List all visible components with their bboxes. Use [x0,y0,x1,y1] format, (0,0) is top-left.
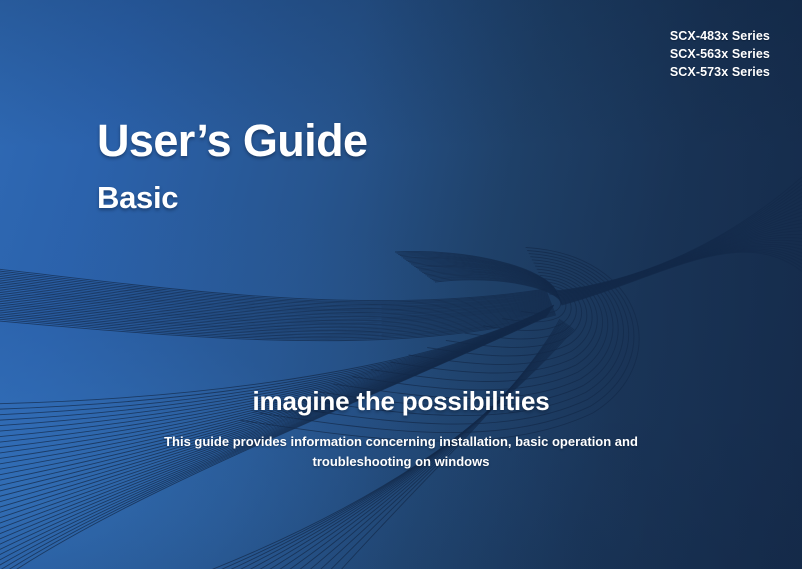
title-block: User’s Guide Basic [97,118,367,213]
description-line-2: troubleshooting on windows [313,454,490,469]
swoosh-lower-fan [0,268,574,569]
description-text: This guide provides information concerni… [151,432,651,472]
model-series-list: SCX-483x Series SCX-563x Series SCX-573x… [670,28,770,81]
model-series-item-2: SCX-563x Series [670,46,770,64]
page-subtitle: Basic [97,182,367,213]
tagline: imagine the possibilities [0,386,802,417]
description-line-1: This guide provides information concerni… [164,434,638,449]
page-title: User’s Guide [97,118,367,163]
wave-swoosh-graphic [0,0,802,569]
cover-page: SCX-483x Series SCX-563x Series SCX-573x… [0,0,802,569]
model-series-item-1: SCX-483x Series [670,28,770,46]
model-series-item-3: SCX-573x Series [670,64,770,82]
